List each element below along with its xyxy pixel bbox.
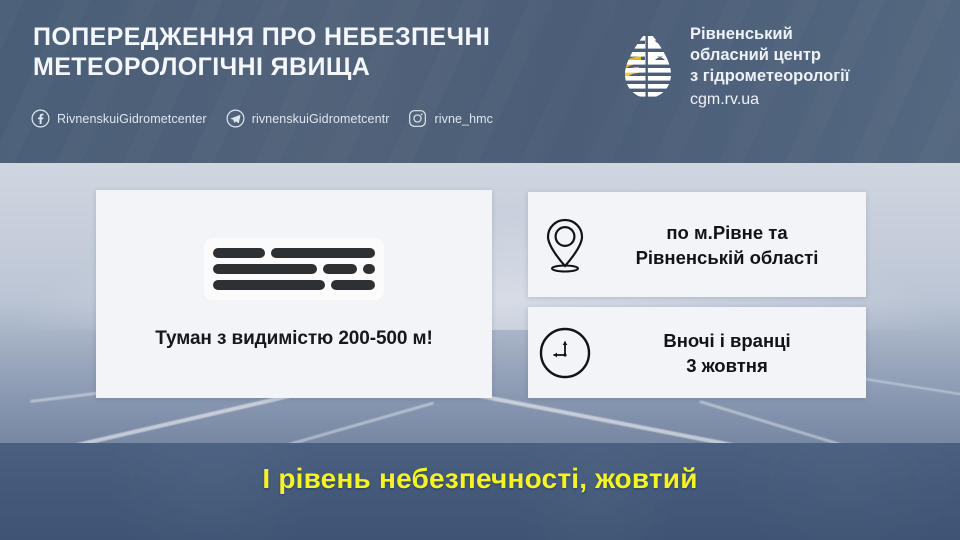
telegram-icon bbox=[226, 109, 245, 128]
org-line-1: Рівненський bbox=[690, 24, 849, 45]
location-line-1: по м.Рівне та bbox=[602, 220, 852, 245]
footer-band: І рівень небезпечності, жовтий bbox=[0, 443, 960, 540]
water-drop-logo bbox=[619, 28, 677, 102]
organization-block: Рівненський обласний центр з гідрометеор… bbox=[619, 24, 849, 110]
social-link-telegram[interactable]: rivnenskuiGidrometcentr bbox=[226, 109, 390, 128]
social-link-facebook[interactable]: RivnenskuiGidrometcenter bbox=[31, 109, 207, 128]
location-line-2: Рівненській області bbox=[602, 245, 852, 270]
header-band: ПОПЕРЕДЖЕННЯ ПРО НЕБЕЗПЕЧНІ МЕТЕОРОЛОГІЧ… bbox=[0, 0, 960, 163]
fog-icon-backdrop bbox=[204, 238, 384, 300]
social-link-instagram[interactable]: rivne_hmc bbox=[408, 109, 493, 128]
warning-text: Туман з видимістю 200-500 м! bbox=[155, 328, 432, 350]
page-title-line2: МЕТЕОРОЛОГІЧНІ ЯВИЩА bbox=[33, 52, 613, 82]
location-text: по м.Рівне та Рівненській області bbox=[602, 220, 866, 270]
organization-name: Рівненський обласний центр з гідрометеор… bbox=[690, 24, 849, 110]
page-title-line1: ПОПЕРЕДЖЕННЯ ПРО НЕБЕЗПЕЧНІ bbox=[33, 22, 613, 52]
instagram-icon bbox=[408, 109, 427, 128]
location-card: по м.Рівне та Рівненській області bbox=[528, 192, 866, 297]
time-line-1: Вночі і вранці bbox=[602, 328, 852, 353]
time-line-2: 3 жовтня bbox=[602, 353, 852, 378]
page-title: ПОПЕРЕДЖЕННЯ ПРО НЕБЕЗПЕЧНІ МЕТЕОРОЛОГІЧ… bbox=[33, 22, 613, 82]
fog-icon bbox=[211, 246, 377, 292]
clock-icon-wrap bbox=[528, 326, 602, 380]
danger-level-text: І рівень небезпечності, жовтий bbox=[0, 463, 960, 495]
clock-icon bbox=[538, 326, 592, 380]
facebook-icon bbox=[31, 109, 50, 128]
social-label-instagram: rivne_hmc bbox=[434, 112, 493, 126]
time-text: Вночі і вранці 3 жовтня bbox=[602, 328, 866, 378]
org-line-3: з гідрометеорології bbox=[690, 66, 849, 87]
social-label-telegram: rivnenskuiGidrometcentr bbox=[252, 112, 390, 126]
social-label-facebook: RivnenskuiGidrometcenter bbox=[57, 112, 207, 126]
time-card: Вночі і вранці 3 жовтня bbox=[528, 307, 866, 398]
weather-warning-poster: ПОПЕРЕДЖЕННЯ ПРО НЕБЕЗПЕЧНІ МЕТЕОРОЛОГІЧ… bbox=[0, 0, 960, 540]
map-pin-icon bbox=[544, 216, 586, 274]
warning-card: Туман з видимістю 200-500 м! bbox=[96, 190, 492, 398]
org-website[interactable]: cgm.rv.ua bbox=[690, 89, 849, 110]
location-icon-wrap bbox=[528, 216, 602, 274]
social-links: RivnenskuiGidrometcenter rivnenskuiGidro… bbox=[31, 109, 493, 128]
org-line-2: обласний центр bbox=[690, 45, 849, 66]
